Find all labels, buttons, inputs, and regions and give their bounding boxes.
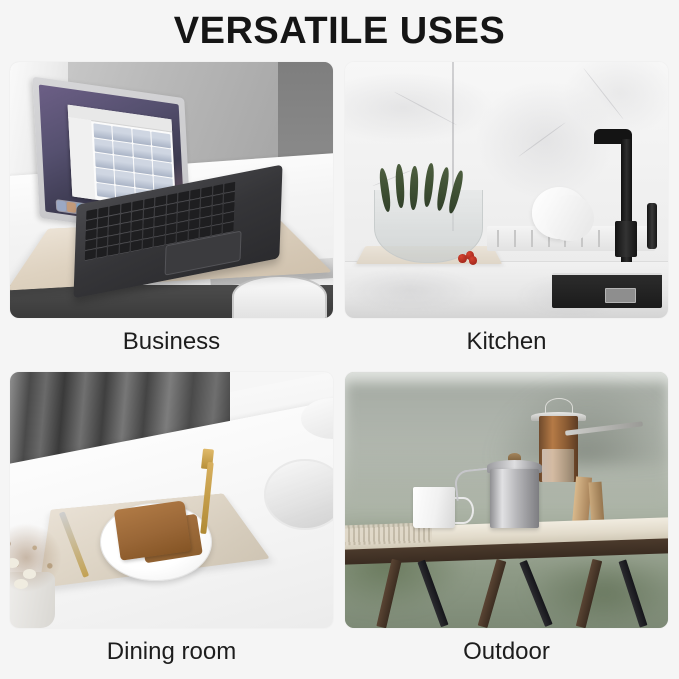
sink-drain — [605, 288, 636, 303]
bread-slice-front — [113, 500, 190, 561]
mug-handle — [452, 497, 473, 524]
zucchini-group — [377, 164, 480, 220]
use-case-card-outdoor: Outdoor — [345, 372, 668, 667]
uses-grid: Business — [10, 62, 669, 668]
dining-room-scene-image — [10, 372, 333, 628]
plate-front — [545, 195, 593, 241]
window-sidebar — [68, 117, 95, 200]
use-case-card-business: Business — [10, 62, 333, 357]
berries — [458, 251, 477, 264]
caption-outdoor: Outdoor — [345, 637, 668, 667]
dried-flowers — [10, 515, 75, 597]
faucet-base — [615, 221, 638, 257]
business-scene-image — [10, 62, 333, 318]
caption-business: Business — [10, 327, 333, 357]
zucchini — [410, 165, 420, 209]
zucchini — [395, 164, 406, 208]
zucchini — [423, 163, 436, 208]
gooseneck-kettle — [490, 469, 538, 528]
faucet-handle — [647, 203, 657, 249]
page-title: VERSATILE USES — [0, 8, 679, 54]
use-case-card-dining-room: Dining room — [10, 372, 333, 667]
zucchini — [447, 170, 466, 215]
caption-dining-room: Dining room — [10, 637, 333, 667]
enamel-mug — [413, 487, 455, 528]
use-case-card-kitchen: Kitchen — [345, 62, 668, 357]
zucchini — [378, 167, 392, 212]
lantern-glass — [542, 449, 574, 482]
kitchen-scene-image — [345, 62, 668, 318]
glassware-front — [264, 459, 333, 530]
laptop — [36, 88, 281, 283]
outdoor-scene-image — [345, 372, 668, 628]
caption-kitchen: Kitchen — [345, 327, 668, 357]
